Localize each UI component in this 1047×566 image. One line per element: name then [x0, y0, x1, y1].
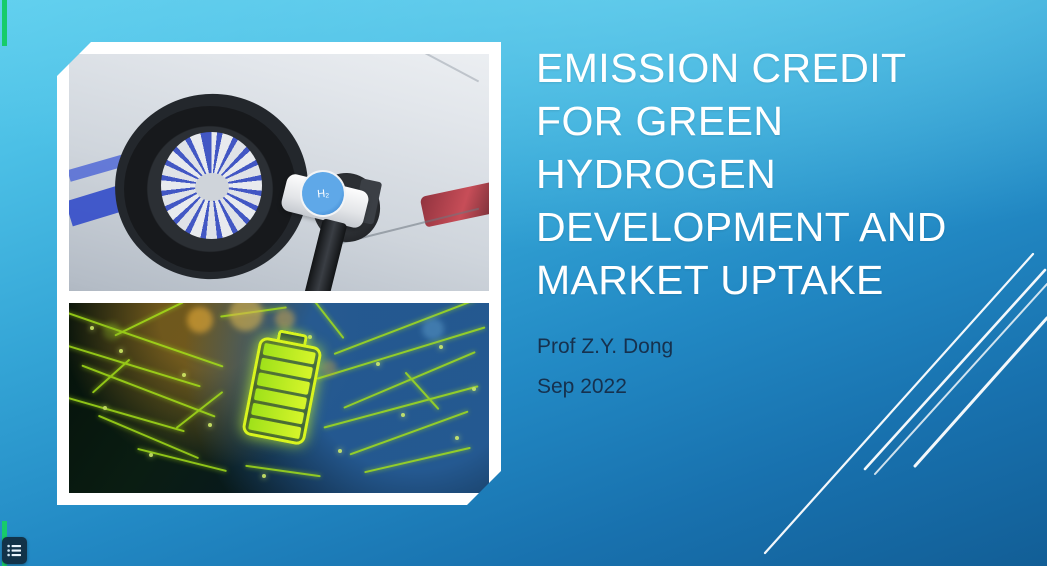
presentation-slide: H₂ [0, 0, 1047, 566]
slide-title: EMISSION CREDIT FOR GREEN HYDROGEN DEVEL… [536, 42, 1006, 307]
outline-view-button[interactable] [2, 537, 27, 564]
title-line: MARKET UPTAKE [536, 254, 1006, 307]
subtitle-date: Sep 2022 [537, 367, 977, 407]
car-wheel-hub [195, 173, 229, 201]
list-outline-icon [7, 544, 22, 557]
title-line: DEVELOPMENT AND [536, 201, 1006, 254]
slide-progress-rail[interactable] [2, 0, 7, 566]
title-line: FOR GREEN [536, 95, 1006, 148]
title-line: EMISSION CREDIT [536, 42, 1006, 95]
hydrogen-fuel-car-photo: H₂ [69, 54, 489, 291]
slide-subtitle: Prof Z.Y. Dong Sep 2022 [537, 327, 977, 407]
green-battery-circuit-photo [69, 303, 489, 493]
subtitle-author: Prof Z.Y. Dong [537, 327, 977, 367]
photo-stack: H₂ [69, 54, 489, 493]
progress-segment-top [2, 0, 7, 46]
title-line: HYDROGEN [536, 148, 1006, 201]
photo-frame: H₂ [57, 42, 501, 505]
